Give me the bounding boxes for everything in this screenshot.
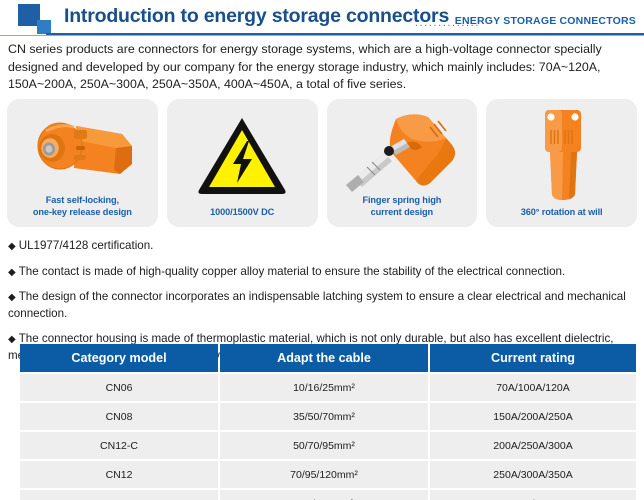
feature-card-label: 360° rotation at will [521,207,603,228]
header-rule-secondary [0,35,644,36]
table-row: CN12 70/95/120mm² 250A/300A/350A [20,461,636,488]
feature-card-finger-spring: Finger spring high current design [327,99,478,227]
cell-category-model: CN12 [20,461,218,488]
list-item: ◆The contact is made of high-quality cop… [8,264,638,281]
orange-right-angle-connector-icon [327,99,478,195]
logo-square-small [37,20,51,34]
blue-squares-logo-icon [18,4,58,34]
datasheet-page: Introduction to energy storage connector… [0,0,644,500]
cell-current-rating: 200A/250A/300A [430,432,636,459]
orange-panel-mount-connector-icon [486,99,637,207]
cell-adapt-the-cable: 150/185mm² [220,490,428,500]
feature-card-label: 1000/1500V DC [210,207,274,228]
column-header-current-rating: Current rating [430,344,636,372]
cell-category-model: CN14 [20,490,218,500]
table-header-row: Category model Adapt the cable Current r… [20,344,636,372]
feature-card-voltage: 1000/1500V DC [167,99,318,227]
cell-category-model: CN12-C [20,432,218,459]
diamond-bullet-icon: ◆ [8,292,16,303]
list-item: ◆The design of the connector incorporate… [8,289,638,322]
table-row: CN14 150/185mm² 400A/450A [20,490,636,500]
feature-card-self-locking: Fast self-locking, one-key release desig… [7,99,158,227]
cell-category-model: CN06 [20,374,218,401]
header-kicker-label: ENERGY STORAGE CONNECTORS [455,15,636,27]
column-header-category-model: Category model [20,344,218,372]
table-row: CN12-C 50/70/95mm² 200A/250A/300A [20,432,636,459]
list-item: ◆UL1977/4128 certification. [8,238,638,255]
cell-adapt-the-cable: 35/50/70mm² [220,403,428,430]
feature-card-rotation: 360° rotation at will [486,99,637,227]
high-voltage-warning-triangle-icon [167,99,318,207]
intro-paragraph: CN series products are connectors for en… [8,41,636,94]
feature-card-label: Fast self-locking, one-key release desig… [33,195,132,227]
diamond-bullet-icon: ◆ [8,267,16,278]
cell-adapt-the-cable: 50/70/95mm² [220,432,428,459]
cell-adapt-the-cable: 70/95/120mm² [220,461,428,488]
column-header-adapt-the-cable: Adapt the cable [220,344,428,372]
cell-category-model: CN08 [20,403,218,430]
cell-current-rating: 70A/100A/120A [430,374,636,401]
table-row: CN06 10/16/25mm² 70A/100A/120A [20,374,636,401]
diamond-bullet-icon: ◆ [8,334,16,345]
orange-inline-connector-icon [7,99,158,195]
cell-adapt-the-cable: 10/16/25mm² [220,374,428,401]
feature-card-list: Fast self-locking, one-key release desig… [7,99,637,227]
page-title: Introduction to energy storage connector… [64,5,449,28]
cell-current-rating: 150A/200A/250A [430,403,636,430]
cell-current-rating: 250A/300A/350A [430,461,636,488]
cell-current-rating: 400A/450A [430,490,636,500]
page-header: Introduction to energy storage connector… [0,0,644,36]
diamond-bullet-icon: ◆ [8,241,16,252]
feature-card-label: Finger spring high current design [362,195,441,227]
table-row: CN08 35/50/70mm² 150A/200A/250A [20,403,636,430]
specification-table: Category model Adapt the cable Current r… [18,342,638,500]
